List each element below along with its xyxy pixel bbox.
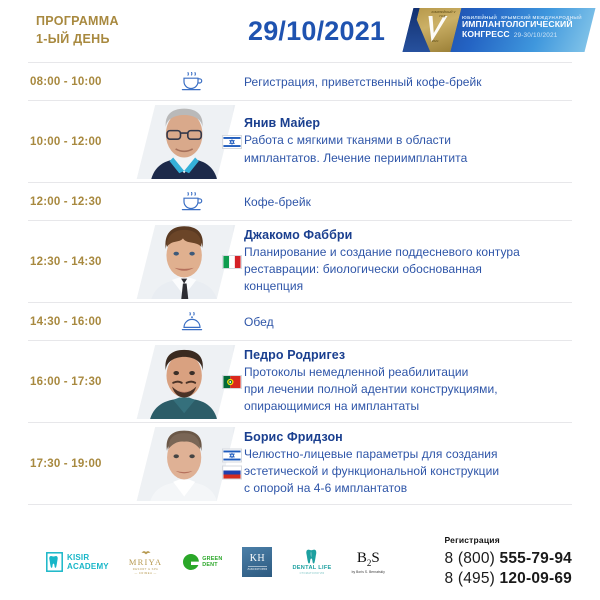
row-media: [140, 345, 244, 419]
speaker-name: Борис Фридзон: [244, 430, 566, 444]
sponsor-b2s-main: B: [357, 550, 367, 566]
mriya-bird-icon: [141, 549, 151, 556]
talk-topic: Челюстно-лицевые параметры для создания …: [244, 446, 566, 497]
sponsor-mriya-sub: RESORT & SPA: [129, 568, 162, 571]
row-media: [140, 303, 244, 340]
row-info: Кофе-брейк: [244, 195, 572, 209]
phone-digits: 120-09-69: [500, 570, 572, 587]
row-label: Регистрация, приветственный кофе-брейк: [244, 75, 566, 89]
phone-prefix: 8 (495): [445, 570, 496, 587]
row-media: [140, 225, 244, 299]
row-info: Борис Фридзон Челюстно-лицевые параметры…: [244, 430, 572, 497]
speaker-flags: [222, 375, 242, 389]
flag-italy-icon: [222, 255, 242, 269]
speaker-portrait: [140, 105, 244, 179]
flag-portugal-icon: [222, 375, 242, 389]
sponsor-green-dent[interactable]: GREEN DENT: [182, 553, 222, 571]
sponsor-kh-sub: ЛАБОРАТОРИЯ: [248, 566, 268, 571]
speaker-name: Янив Майер: [244, 116, 566, 130]
sponsor-kh[interactable]: KH ЛАБОРАТОРИЯ: [242, 547, 272, 577]
row-info: Обед: [244, 315, 572, 329]
row-label: Кофе-брейк: [244, 195, 566, 209]
program-page: ПРОГРАММА 1-ЫЙ ДЕНЬ 29/10/2021 ЮБИЛЕЙНЫЙ…: [0, 0, 600, 600]
sponsor-b2s-main2: S: [371, 550, 379, 566]
flag-israel-icon: [222, 448, 242, 462]
sponsor-kisir-line2: ACADEMY: [67, 562, 109, 571]
avatar: [137, 105, 233, 179]
schedule-row[interactable]: 10:00 - 12:00: [28, 100, 572, 182]
green-dent-c-icon: [182, 553, 200, 571]
registration-contacts: Регистрация 8 (800) 555-79-94 8 (495) 12…: [445, 535, 573, 589]
sponsor-kisir-line1: KISIR: [67, 553, 109, 562]
flag-russia-icon: [222, 465, 242, 479]
schedule-list: 08:00 - 10:00 Регистрация, приветственны…: [0, 62, 600, 505]
logo-dates: 29-30/10/2021: [514, 32, 558, 39]
speaker-portrait: [140, 225, 244, 299]
phone-number[interactable]: 8 (800) 555-79-94: [445, 549, 573, 569]
phone-prefix: 8 (800): [445, 550, 496, 567]
schedule-row[interactable]: 17:30 - 19:00: [28, 422, 572, 504]
row-time: 08:00 - 10:00: [28, 76, 140, 88]
food-cloche-icon: [181, 312, 203, 332]
row-label: Обед: [244, 315, 566, 329]
speaker-flags: [222, 255, 242, 269]
speaker-flags: [222, 135, 242, 149]
logo-text: ЮБИЛЕЙНЫЙ КРЫМСКИЙ МЕЖДУНАРОДНЫЙ ИМПЛАНТ…: [462, 15, 582, 39]
schedule-row[interactable]: 08:00 - 10:00 Регистрация, приветственны…: [28, 62, 572, 100]
sponsor-dentallife-sub: СТОМАТОЛОГИЯ: [300, 572, 325, 575]
row-media: [140, 63, 244, 100]
page-footer: KISIR ACADEMY MRIYA RESORT & SPA — CRIME…: [0, 524, 600, 600]
row-media: [140, 105, 244, 179]
talk-topic: Протоколы немедленной реабилитации при л…: [244, 364, 566, 415]
row-media: [140, 183, 244, 220]
page-title: ПРОГРАММА 1-ЫЙ ДЕНЬ: [36, 13, 196, 49]
row-time: 12:30 - 14:30: [28, 256, 140, 268]
page-header: ПРОГРАММА 1-ЫЙ ДЕНЬ 29/10/2021 ЮБИЛЕЙНЫЙ…: [0, 0, 600, 62]
sponsor-dental-life[interactable]: DENTAL LIFE СТОМАТОЛОГИЯ: [292, 549, 331, 575]
speaker-flags: [222, 448, 242, 479]
talk-topic: Работа с мягкими тканями в области импла…: [244, 132, 566, 166]
talk-topic: Планирование и создание поддесневого кон…: [244, 244, 566, 295]
program-date: 29/10/2021: [248, 16, 385, 47]
schedule-row[interactable]: 12:30 - 14:30: [28, 220, 572, 302]
row-info: Джакомо Фаббри Планирование и создание п…: [244, 228, 572, 295]
speaker-portrait: [140, 427, 244, 501]
avatar: [137, 345, 233, 419]
dental-life-tooth-icon: [305, 549, 319, 564]
sponsor-greendent-line2: DENT: [202, 562, 222, 568]
logo-badge-top: ЮБИЛЕЙНЫЙ V ГОД: [429, 11, 457, 19]
row-media: [140, 427, 244, 501]
coffee-cup-icon: [181, 192, 203, 212]
row-time: 17:30 - 19:00: [28, 458, 140, 470]
coffee-cup-icon: [181, 72, 203, 92]
speaker-portrait: [140, 345, 244, 419]
registration-title: Регистрация: [445, 535, 573, 545]
schedule-row[interactable]: 16:00 - 17:30: [28, 340, 572, 422]
row-time: 14:30 - 16:00: [28, 316, 140, 328]
speaker-name: Педро Родригез: [244, 348, 566, 362]
kisir-tooth-icon: [46, 552, 63, 572]
row-time: 12:00 - 12:30: [28, 196, 140, 208]
avatar: [137, 225, 233, 299]
sponsor-b2s-sub: by Boris S. Bernatskiy: [352, 570, 385, 574]
sponsor-mriya-sub2: — CRIMEA —: [129, 572, 162, 575]
sponsor-mriya-main: MRIYA: [129, 557, 162, 567]
speaker-name: Джакомо Фаббри: [244, 228, 566, 242]
schedule-row[interactable]: 12:00 - 12:30 Кофе-брейк: [28, 182, 572, 220]
sponsor-kisir-academy[interactable]: KISIR ACADEMY: [46, 552, 109, 572]
congress-logo: ЮБИЛЕЙНЫЙ V ГОД 2021 ЮБИЛЕЙНЫЙ КРЫМСКИЙ …: [408, 8, 590, 52]
avatar: [137, 427, 233, 501]
row-info: Регистрация, приветственный кофе-брейк: [244, 75, 572, 89]
row-time: 16:00 - 17:30: [28, 376, 140, 388]
sponsor-logos: KISIR ACADEMY MRIYA RESORT & SPA — CRIME…: [28, 547, 445, 577]
phone-digits: 555-79-94: [500, 550, 572, 567]
phone-number[interactable]: 8 (495) 120-09-69: [445, 569, 573, 589]
sponsor-b2s[interactable]: B2S by Boris S. Bernatskiy: [352, 551, 385, 574]
sponsor-kh-main: KH: [250, 553, 265, 564]
row-info: Педро Родригез Протоколы немедленной реа…: [244, 348, 572, 415]
sponsor-dentallife-main: DENTAL LIFE: [292, 565, 331, 571]
sponsor-mriya[interactable]: MRIYA RESORT & SPA — CRIMEA —: [129, 549, 162, 575]
logo-line-big2: КОНГРЕСС: [462, 30, 510, 40]
schedule-bottom-divider: [28, 504, 572, 505]
flag-israel-icon: [222, 135, 242, 149]
schedule-row[interactable]: 14:30 - 16:00 Обед: [28, 302, 572, 340]
row-info: Янив Майер Работа с мягкими тканями в об…: [244, 116, 572, 166]
logo-badge-bottom: 2021: [425, 40, 446, 44]
row-time: 10:00 - 12:00: [28, 136, 140, 148]
